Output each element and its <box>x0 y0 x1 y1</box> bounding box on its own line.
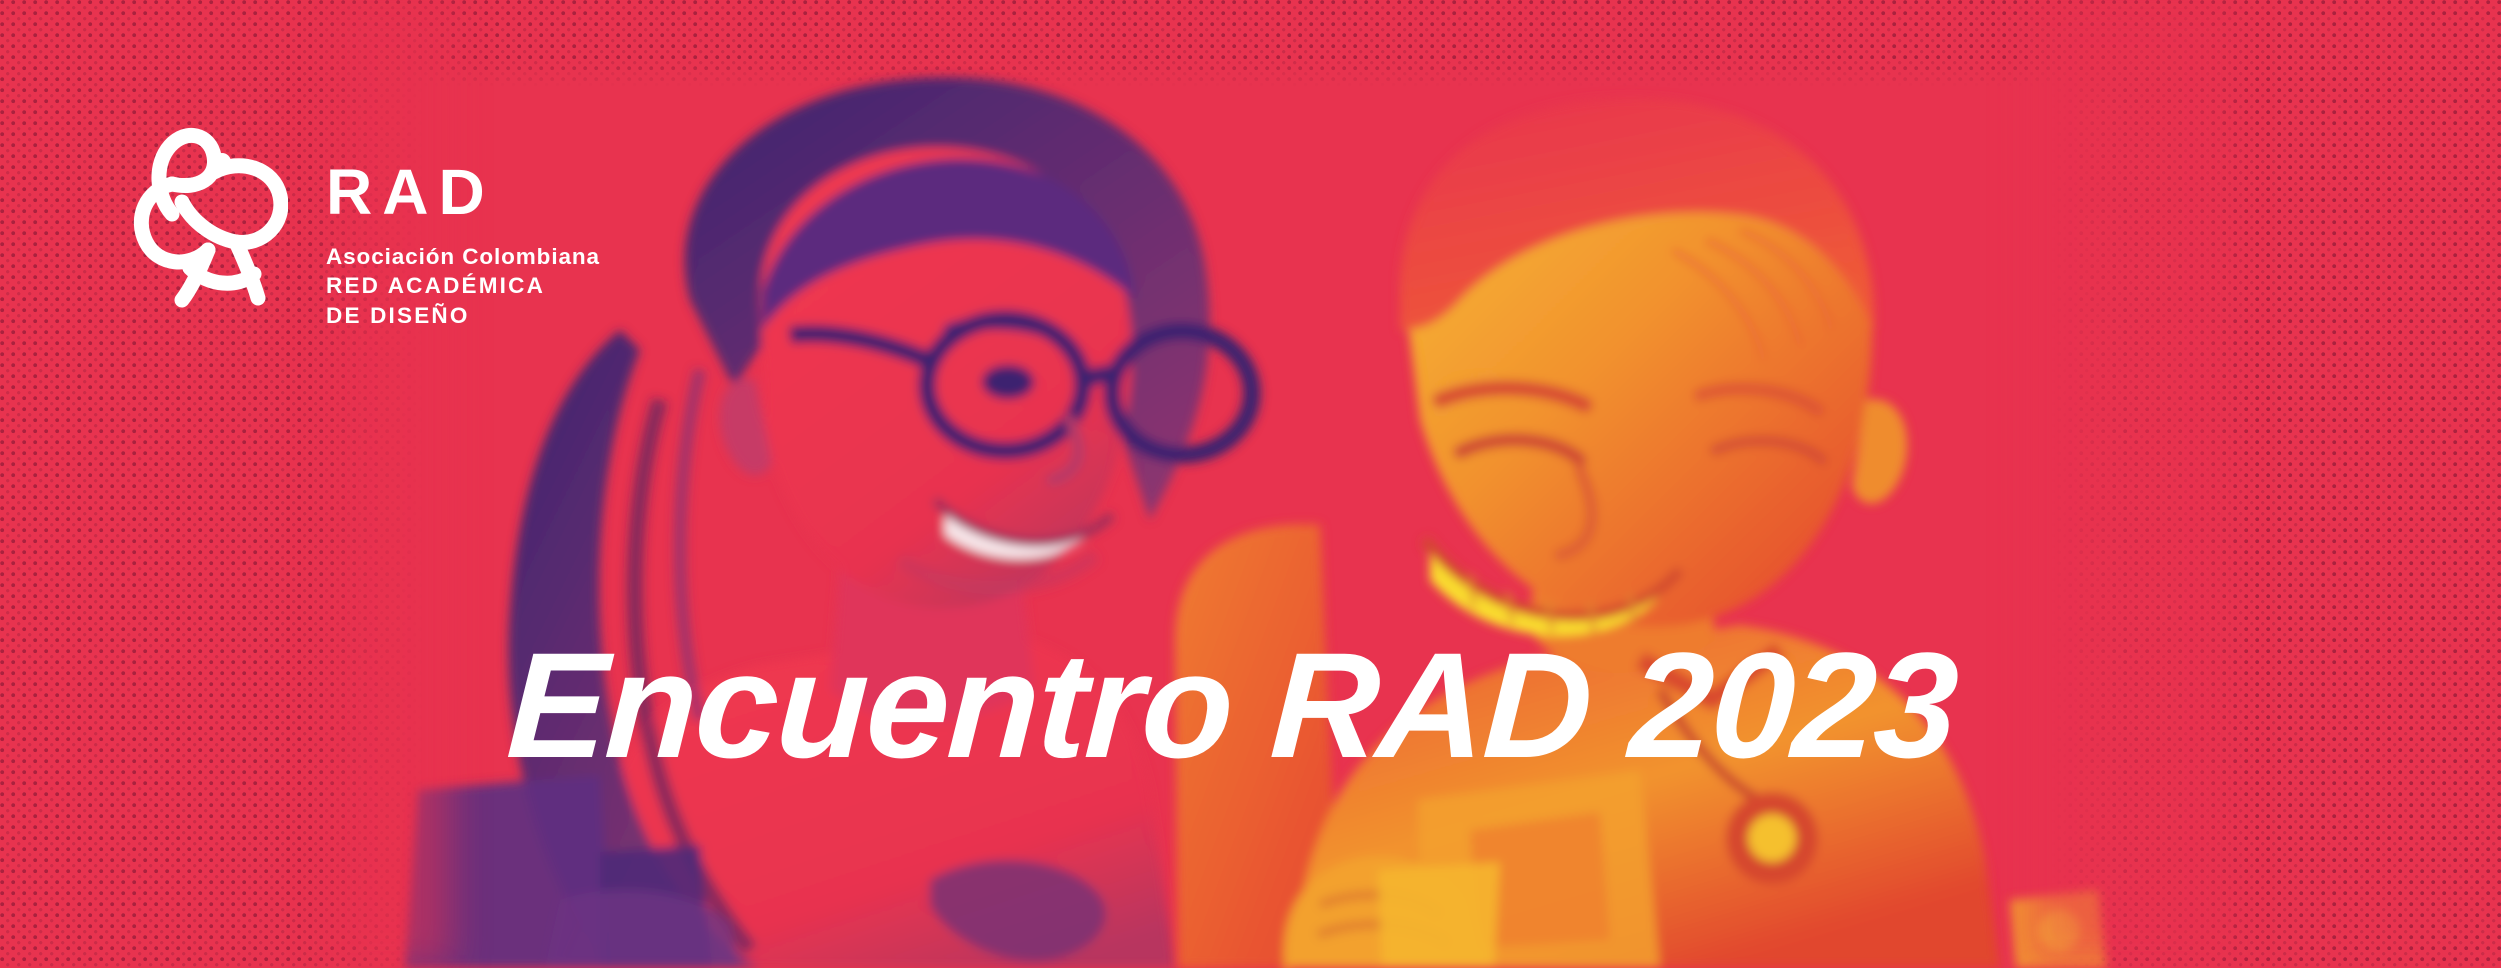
tagline-line-1: Asociación Colombiana <box>326 242 600 271</box>
encuentro-rad-banner: RAD Asociación Colombiana RED ACADÉMICA … <box>0 0 2501 968</box>
banner-title: Encuentro RAD 2023 <box>504 630 1960 780</box>
tagline-line-2: RED ACADÉMICA <box>326 271 600 300</box>
subject-person-smiling <box>1175 98 2106 968</box>
rad-wordmark-block: RAD Asociación Colombiana RED ACADÉMICA … <box>326 118 600 330</box>
rad-knot-monogram-icon <box>128 118 288 308</box>
rad-wordmark: RAD <box>326 160 600 224</box>
rad-logo-lockup[interactable]: RAD Asociación Colombiana RED ACADÉMICA … <box>128 118 600 330</box>
tagline-line-3: DE DISEÑO <box>326 301 600 330</box>
